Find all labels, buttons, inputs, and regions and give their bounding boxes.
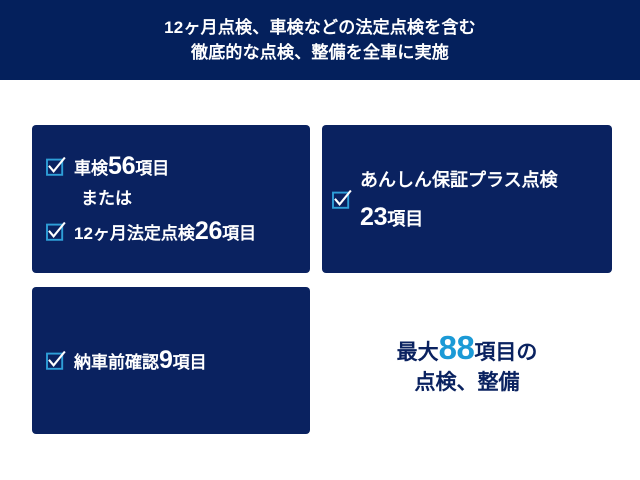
checklist-label-12month: 12ヶ月法定点検26項目 — [74, 217, 256, 246]
checklist-item-12month: 12ヶ月法定点検26項目 — [46, 217, 296, 246]
checklist-item-or-divider: または — [46, 188, 296, 211]
summary-line-1: 最大88項目の — [397, 333, 538, 368]
card-warranty-plus: あんしん保証プラス点検 23項目 — [322, 125, 612, 273]
summary-total-number: 88 — [439, 329, 475, 366]
checkbox-checked-icon — [46, 351, 65, 370]
checkbox-checked-icon — [332, 190, 351, 209]
header-banner: 12ヶ月点検、車検などの法定点検を含む 徹底的な点検、整備を全車に実施 — [0, 0, 640, 80]
header-title-line-1: 12ヶ月点検、車検などの法定点検を含む — [164, 15, 476, 40]
checklist-label-shaken: 車検56項目 — [74, 152, 169, 181]
checkbox-checked-icon — [46, 157, 65, 176]
checklist-label-warranty: あんしん保証プラス点検 — [360, 166, 558, 192]
or-label: または — [81, 188, 132, 211]
card-vehicle-inspection: 車検56項目 または 12ヶ月法定点検26項目 — [32, 125, 310, 273]
warranty-text-block: あんしん保証プラス点検 23項目 — [360, 166, 558, 232]
checklist-label-predelivery: 納車前確認9項目 — [74, 346, 207, 375]
header-title-line-2: 徹底的な点検、整備を全車に実施 — [191, 40, 449, 65]
summary-total-items: 最大88項目の 点検、整備 — [322, 320, 612, 410]
checkbox-checked-icon — [46, 222, 65, 241]
checklist-item-shaken: 車検56項目 — [46, 152, 296, 181]
card-predelivery-check: 納車前確認9項目 — [32, 287, 310, 434]
checklist-item-predelivery: 納車前確認9項目 — [46, 346, 296, 375]
summary-line-2: 点検、整備 — [415, 368, 520, 398]
checklist-count-warranty: 23項目 — [360, 203, 558, 232]
